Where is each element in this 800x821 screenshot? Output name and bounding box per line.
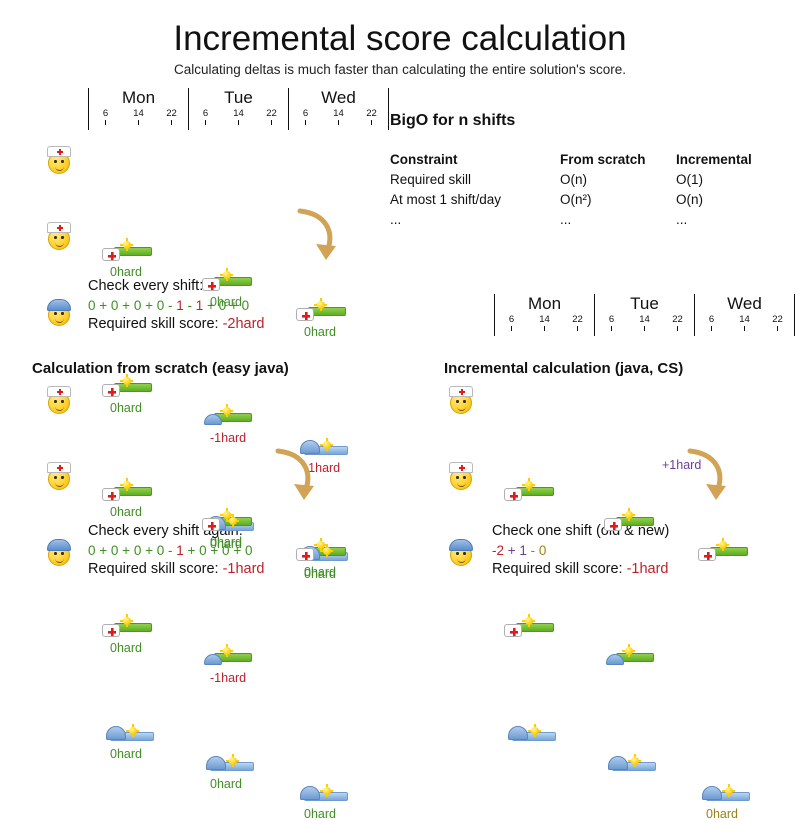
helmet-badge-icon xyxy=(606,654,624,665)
bigo-cell: ... xyxy=(560,210,676,230)
calendar-tick xyxy=(205,120,206,125)
calendar-day-label: Wed xyxy=(695,294,794,314)
helmet-avatar-icon[interactable] xyxy=(448,536,474,566)
calendar-tick xyxy=(744,326,745,331)
shift-green-nurse-shift[interactable]: 0hard xyxy=(102,374,160,404)
bigo-cell: Required skill xyxy=(390,170,560,190)
calendar-header-bottom: Mon61422Tue61422Wed61422 xyxy=(494,294,795,336)
calendar-hour-label: 22 xyxy=(561,314,594,326)
helmet-avatar-icon[interactable] xyxy=(46,536,72,566)
sun-icon xyxy=(220,508,233,521)
nurse-badge-icon xyxy=(296,308,314,321)
calendar-tick xyxy=(138,120,139,125)
sum-token: - xyxy=(527,543,539,558)
required-skill-score-inc-value: -1hard xyxy=(627,561,669,577)
required-skill-score-top-label: Required skill score: xyxy=(88,316,223,332)
helmet-badge-icon xyxy=(206,756,226,770)
nurse-cap-icon xyxy=(449,386,473,397)
nurse-cap-icon xyxy=(47,222,71,233)
nurse-cap-icon xyxy=(47,146,71,157)
incremental-section-title: Incremental calculation (java, CS) xyxy=(444,360,683,377)
nurse-avatar-icon[interactable] xyxy=(46,460,72,490)
calendar-hour-label: 6 xyxy=(289,108,322,120)
sun-icon xyxy=(716,538,729,551)
move-arrow-icon-from-scratch xyxy=(274,448,320,506)
sum-token: - xyxy=(164,543,176,558)
calendar-tick-row xyxy=(189,120,288,126)
calendar-hour-label: 22 xyxy=(661,314,694,326)
shift-blue-helmet-shift[interactable]: 0hard xyxy=(296,780,354,810)
sun-icon xyxy=(522,478,535,491)
bigo-cell: O(1) xyxy=(676,170,796,190)
sum-token: + xyxy=(96,298,111,313)
sum-token: + xyxy=(141,543,156,558)
shift-score-label: 0hard xyxy=(304,325,336,339)
sun-icon xyxy=(320,784,333,797)
shift-score-label: 0hard xyxy=(304,565,336,579)
calendar-tick-row xyxy=(89,120,188,126)
avatar-smile xyxy=(457,557,466,563)
nurse-avatar-icon[interactable] xyxy=(46,220,72,250)
calendar-tick xyxy=(644,326,645,331)
calendar-day-mon: Mon61422 xyxy=(495,294,594,332)
bigo-header-cell: From scratch xyxy=(560,150,676,170)
nurse-avatar-icon[interactable] xyxy=(46,144,72,174)
avatar-smile xyxy=(457,481,466,487)
bigo-cell: O(n²) xyxy=(560,190,676,210)
sum-token: + xyxy=(504,543,519,558)
calendar-hour-label: 6 xyxy=(595,314,628,326)
calendar-hour-label: 6 xyxy=(695,314,728,326)
helmet-icon xyxy=(47,539,71,551)
helmet-avatar-icon[interactable] xyxy=(46,296,72,326)
calendar-hour-label: 14 xyxy=(728,314,761,326)
bigo-cell: ... xyxy=(390,210,560,230)
sun-icon xyxy=(622,644,635,657)
avatar-smile xyxy=(457,405,466,411)
shift-score-label: 0hard xyxy=(110,641,142,655)
calendar-day-label: Mon xyxy=(89,88,188,108)
shift-blue-helmet-shift[interactable] xyxy=(604,750,662,780)
shift-score-label: 0hard xyxy=(210,777,242,791)
shift-score-label: 0hard xyxy=(110,401,142,415)
avatar-smile xyxy=(55,557,64,563)
check-every-shift-sum: 0 + 0 + 0 + 0 - 1 - 1 + 0 + 0 xyxy=(88,296,265,315)
calendar-divider xyxy=(794,294,795,336)
avatar-smile xyxy=(55,481,64,487)
sun-icon xyxy=(628,754,641,767)
nurse-avatar-icon[interactable] xyxy=(448,460,474,490)
nurse-badge-icon xyxy=(102,624,120,637)
sum-token: + xyxy=(230,543,245,558)
calendar-tick xyxy=(105,120,106,125)
sum-token: 0 xyxy=(245,543,253,558)
sun-icon xyxy=(120,614,133,627)
bigo-header-row: ConstraintFrom scratchIncremental xyxy=(390,150,796,170)
calendar-day-tue: Tue61422 xyxy=(189,88,288,126)
nurse-badge-icon xyxy=(102,384,120,397)
shift-blue-helmet-shift[interactable]: 0hard xyxy=(698,780,756,810)
nurse-badge-icon xyxy=(102,488,120,501)
nurse-cap-icon xyxy=(449,462,473,473)
bigo-cell: O(n) xyxy=(676,190,796,210)
sum-token: - xyxy=(164,298,176,313)
nurse-badge-icon xyxy=(698,548,716,561)
sun-icon xyxy=(120,374,133,387)
calendar-tick-row xyxy=(695,326,794,332)
shift-green-nurse-shift[interactable] xyxy=(504,614,562,644)
shift-score-label: 0hard xyxy=(110,747,142,761)
sum-token: + xyxy=(184,543,199,558)
sun-icon xyxy=(320,438,333,451)
shift-green-nurse-shift[interactable] xyxy=(698,538,756,568)
sun-icon xyxy=(120,238,133,251)
helmet-badge-icon xyxy=(508,726,528,740)
bigo-row: ......... xyxy=(390,210,796,230)
sun-icon xyxy=(314,298,327,311)
sum-token: 0 xyxy=(539,543,547,558)
avatar-smile xyxy=(55,241,64,247)
move-arrow-icon xyxy=(296,208,342,266)
calendar-header-top: Mon61422Tue61422Wed61422 xyxy=(88,88,389,130)
page-subtitle: Calculating deltas is much faster than c… xyxy=(0,62,800,77)
required-skill-score-fs-value: -1hard xyxy=(223,561,265,577)
bigo-cell: O(n) xyxy=(560,170,676,190)
helmet-badge-icon xyxy=(608,756,628,770)
calendar-tick xyxy=(777,326,778,331)
calendar-hour-label: 6 xyxy=(495,314,528,326)
calendar-day-mon: Mon61422 xyxy=(89,88,188,126)
calendar-day-label: Mon xyxy=(495,294,594,314)
nurse-avatar-icon[interactable] xyxy=(46,384,72,414)
sun-icon xyxy=(528,724,541,737)
shift-green-nurse-shift[interactable]: 0hard xyxy=(102,238,160,268)
calendar-tick xyxy=(271,120,272,125)
calendar-tick xyxy=(305,120,306,125)
calendar-day-wed: Wed61422 xyxy=(289,88,388,126)
shift-score-label: -1hard xyxy=(210,431,246,445)
nurse-avatar-icon[interactable] xyxy=(448,384,474,414)
helmet-icon xyxy=(449,539,473,551)
nurse-badge-icon xyxy=(504,624,522,637)
calendar-hour-label: 14 xyxy=(322,108,355,120)
required-skill-score-fs-label: Required skill score: xyxy=(88,561,223,577)
required-skill-score-from-scratch: Required skill score: -1hard xyxy=(88,560,265,579)
calendar-hour-label: 22 xyxy=(255,108,288,120)
required-skill-score-top-value: -2hard xyxy=(223,316,265,332)
sum-token: + xyxy=(203,298,218,313)
nurse-cap-icon xyxy=(47,386,71,397)
sum-token: -2 xyxy=(492,543,504,558)
calendar-hour-label: 6 xyxy=(89,108,122,120)
calendar-tick xyxy=(577,326,578,331)
bigo-cell: At most 1 shift/day xyxy=(390,190,560,210)
nurse-badge-icon xyxy=(202,518,220,531)
sum-token: + xyxy=(226,298,241,313)
incremental-summary-block: Check one shift (old & new) -2 + 1 - 0 R… xyxy=(492,522,669,579)
calendar-hour-label: 14 xyxy=(222,108,255,120)
sun-icon xyxy=(226,754,239,767)
shift-score-label: 0hard xyxy=(706,807,738,821)
nurse-badge-icon xyxy=(202,278,220,291)
sum-token: 1 xyxy=(176,298,184,313)
nurse-badge-icon xyxy=(102,248,120,261)
calendar-tick xyxy=(338,120,339,125)
sun-icon xyxy=(126,724,139,737)
shift-green-helmet-shift[interactable]: -1hard xyxy=(202,644,260,674)
bigo-table: ConstraintFrom scratchIncrementalRequire… xyxy=(390,150,796,230)
shift-green-nurse-shift[interactable]: 0hard xyxy=(102,478,160,508)
sum-token: 0 xyxy=(242,298,250,313)
sum-token: - xyxy=(184,298,196,313)
bigo-section: BigO for n shifts ConstraintFrom scratch… xyxy=(390,112,796,230)
helmet-badge-icon xyxy=(204,414,222,425)
sum-token: 0 xyxy=(222,543,230,558)
avatar-smile xyxy=(55,317,64,323)
from-scratch-section-title: Calculation from scratch (easy java) xyxy=(32,360,289,377)
nurse-badge-icon xyxy=(604,518,622,531)
sun-icon xyxy=(722,784,735,797)
shift-green-nurse-shift[interactable]: 0hard xyxy=(296,298,354,328)
calendar-hour-label: 22 xyxy=(355,108,388,120)
move-arrow-icon-incremental xyxy=(686,448,732,506)
sun-icon xyxy=(220,644,233,657)
calendar-day-label: Tue xyxy=(189,88,288,108)
calendar-tick xyxy=(611,326,612,331)
required-skill-score-top: Required skill score: -2hard xyxy=(88,315,265,334)
shift-green-helmet-shift[interactable]: -1hard xyxy=(202,404,260,434)
helmet-badge-icon xyxy=(106,726,126,740)
helmet-badge-icon xyxy=(300,440,320,454)
sum-token: 1 xyxy=(176,543,184,558)
calendar-hour-label: 14 xyxy=(528,314,561,326)
helmet-badge-icon xyxy=(300,786,320,800)
helmet-icon xyxy=(47,299,71,311)
sun-icon xyxy=(220,268,233,281)
shift-score-label: 0hard xyxy=(304,807,336,821)
sum-token: 0 xyxy=(88,543,96,558)
bigo-title: BigO for n shifts xyxy=(390,112,796,130)
calendar-day-tue: Tue61422 xyxy=(595,294,694,332)
calendar-tick xyxy=(711,326,712,331)
helmet-badge-icon xyxy=(204,654,222,665)
sum-token: 1 xyxy=(519,543,527,558)
nurse-cap-icon xyxy=(47,462,71,473)
calendar-tick xyxy=(371,120,372,125)
avatar-smile xyxy=(55,405,64,411)
from-scratch-sum: 0 + 0 + 0 + 0 - 1 + 0 + 0 + 0 xyxy=(88,541,265,560)
bigo-row: At most 1 shift/dayO(n²)O(n) xyxy=(390,190,796,210)
avatar-smile xyxy=(55,165,64,171)
sum-token: 0 xyxy=(199,543,207,558)
calendar-tick xyxy=(511,326,512,331)
shift-blue-helmet-shift[interactable] xyxy=(504,720,562,750)
calendar-tick-row xyxy=(595,326,694,332)
calendar-day-wed: Wed61422 xyxy=(695,294,794,332)
incremental-sum: -2 + 1 - 0 xyxy=(492,541,669,560)
sum-token: + xyxy=(118,543,133,558)
shift-blue-helmet-shift[interactable]: 0hard xyxy=(102,720,160,750)
shift-green-helmet-shift[interactable] xyxy=(604,644,662,674)
required-skill-score-inc-label: Required skill score: xyxy=(492,561,627,577)
sun-icon xyxy=(220,404,233,417)
nurse-badge-icon xyxy=(296,548,314,561)
calendar-hour-label: 22 xyxy=(155,108,188,120)
calendar-tick xyxy=(544,326,545,331)
required-skill-score-incremental: Required skill score: -1hard xyxy=(492,560,669,579)
sum-token: + xyxy=(118,298,133,313)
bigo-cell: ... xyxy=(676,210,796,230)
page-title: Incremental score calculation xyxy=(0,18,800,60)
calendar-tick-row xyxy=(495,326,594,332)
sun-icon xyxy=(314,538,327,551)
bigo-header-cell: Incremental xyxy=(676,150,796,170)
calendar-hour-label: 14 xyxy=(628,314,661,326)
shift-green-nurse-shift[interactable]: 0hard xyxy=(102,614,160,644)
helmet-badge-icon xyxy=(702,786,722,800)
calendar-divider xyxy=(388,88,389,130)
shift-green-nurse-shift[interactable] xyxy=(504,478,562,508)
calendar-tick xyxy=(238,120,239,125)
sun-icon xyxy=(522,614,535,627)
shift-score-label: -1hard xyxy=(210,671,246,685)
nurse-badge-icon xyxy=(504,488,522,501)
calendar-hour-label: 6 xyxy=(189,108,222,120)
calendar-tick xyxy=(677,326,678,331)
calendar-day-label: Tue xyxy=(595,294,694,314)
shift-blue-helmet-shift[interactable]: 0hard xyxy=(202,750,260,780)
bigo-header-cell: Constraint xyxy=(390,150,560,170)
shift-score-label: 0hard xyxy=(110,505,142,519)
sum-token: + xyxy=(96,543,111,558)
calendar-tick xyxy=(171,120,172,125)
calendar-day-label: Wed xyxy=(289,88,388,108)
sun-icon xyxy=(622,508,635,521)
bigo-row: Required skillO(n)O(1) xyxy=(390,170,796,190)
calendar-hour-label: 14 xyxy=(122,108,155,120)
sum-token: 0 xyxy=(88,298,96,313)
sun-icon xyxy=(120,478,133,491)
sum-token: + xyxy=(141,298,156,313)
calendar-tick-row xyxy=(289,120,388,126)
calendar-hour-label: 22 xyxy=(761,314,794,326)
sum-token: + xyxy=(207,543,222,558)
